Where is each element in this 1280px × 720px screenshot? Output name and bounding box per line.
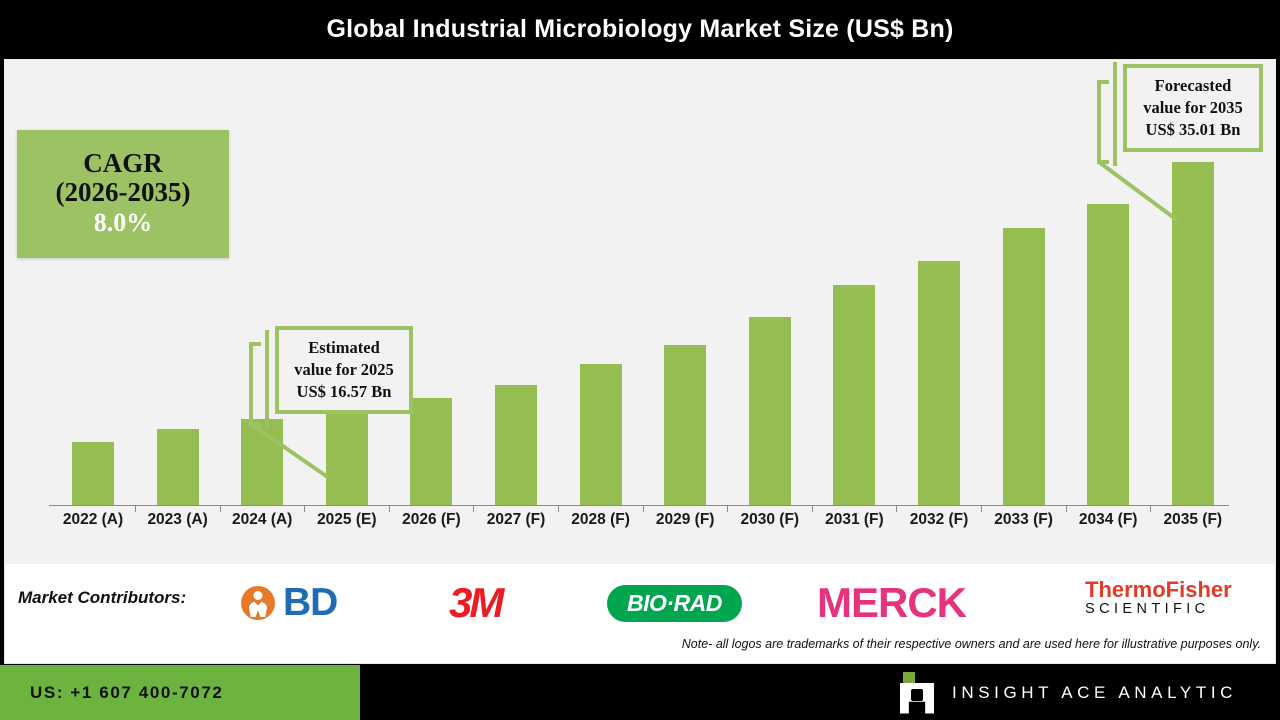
bio-rad-pill: BIO·RAD [607,585,742,622]
callout-box-2035: Forecasted value for 2035 US$ 35.01 Bn [1123,64,1263,152]
footer-brand: INSIGHT ACE ANALYTIC [900,665,1237,720]
x-axis-label-2035: 2035 (F) [1143,511,1243,529]
cagr-period: (2026-2035) [56,178,191,207]
chart-panel: 2022 (A)2023 (A)2024 (A)2025 (E)2026 (F)… [4,59,1276,564]
callout-line2: value for 2025 [294,359,394,381]
bar-2027 [495,385,537,505]
bar-2023 [157,429,199,505]
bar-2028 [580,364,622,505]
callout-line1: Estimated [308,337,380,359]
callout-line1: Forecasted [1155,75,1232,97]
bar-2029 [664,345,706,505]
bar-2030 [749,317,791,505]
cagr-badge: CAGR (2026-2035) 8.0% [17,130,229,258]
cagr-value: 8.0% [94,207,153,240]
contributors-label: Market Contributors: [18,588,186,608]
thermo-fisher-subtext: SCIENTIFIC [1085,601,1210,618]
page-title: Global Industrial Microbiology Market Si… [327,15,954,44]
logos-disclaimer-note: Note- all logos are trademarks of their … [682,637,1261,651]
bar-2034 [1087,204,1129,505]
merck-wordmark: MERCK [817,579,966,627]
footer-phone[interactable]: US: +1 607 400-7072 [30,683,223,703]
bar-2032 [918,261,960,505]
callout-estimated-2025: Estimated value for 2025 US$ 16.57 Bn [245,322,435,452]
brand-wordmark: INSIGHT ACE ANALYTIC [952,683,1237,703]
bar-2022 [72,442,114,505]
thermo-fisher-wordmark: ThermoFisher [1085,578,1232,601]
infographic-page: Global Industrial Microbiology Market Si… [0,0,1280,720]
cagr-title: CAGR [83,149,163,178]
logo-thermo-fisher: ThermoFisher SCIENTIFIC [1085,578,1232,628]
footer-contact-block: US: +1 607 400-7072 [0,665,360,720]
callout-box-2025: Estimated value for 2025 US$ 16.57 Bn [275,326,413,414]
logo-bio-rad: BIO·RAD [607,578,742,628]
logo-bd: BD [241,578,337,628]
bio-rad-wordmark: BIO·RAD [627,590,722,616]
x-axis-line [49,505,1229,506]
callout-forecasted-2035: Forecasted value for 2035 US$ 35.01 Bn [1083,60,1280,210]
callout-line2: value for 2035 [1143,97,1243,119]
bar-2033 [1003,228,1045,505]
logo-letter-a [900,683,934,714]
market-contributors-strip: Market Contributors: BD 3M BIO·RAD MERCK… [4,564,1276,664]
logo-merck: MERCK [817,578,966,628]
insight-ace-logo-icon [900,672,934,714]
header-bar: Global Industrial Microbiology Market Si… [0,0,1280,59]
bd-starburst-icon [241,586,275,620]
bar-2031 [833,285,875,505]
3m-wordmark: 3M [449,579,501,627]
footer-bar: US: +1 607 400-7072 INSIGHT ACE ANALYTIC [0,665,1280,720]
callout-line3: US$ 16.57 Bn [297,381,392,403]
bd-wordmark: BD [283,581,337,625]
callout-line3: US$ 35.01 Bn [1146,119,1241,141]
logo-green-square [903,672,915,683]
logo-3m: 3M [449,578,501,628]
